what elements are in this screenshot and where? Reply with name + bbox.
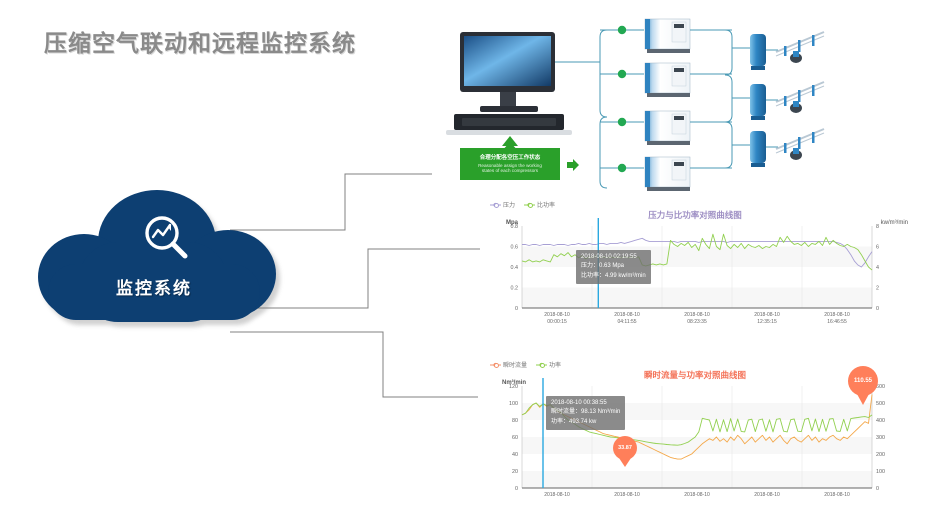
x-tick-label: 2018-08-10 <box>601 492 653 499</box>
tooltip-timestamp: 2018-08-10 02:19:55 <box>581 253 646 262</box>
flow-tooltip: 2018-08-10 00:38:55 瞬时流量：98.13 Nm³/min 功… <box>546 396 625 430</box>
y-tick-label: 0.8 <box>511 224 519 230</box>
y2-tick-label: 8 <box>876 224 879 230</box>
x-tick-label: 2018-08-10 <box>811 492 863 499</box>
air-tank-assembly <box>750 129 824 167</box>
green-info-box <box>460 182 564 183</box>
x-tick-label: 2018-08-10 <box>671 492 723 499</box>
y2-tick-label: 100 <box>876 469 885 475</box>
compressor-unit <box>645 111 690 145</box>
y-tick-label: 120 <box>509 384 518 390</box>
max-value-marker[interactable]: 110.55 <box>848 366 878 396</box>
y-tick-label: 80 <box>512 418 518 424</box>
x-tick-label: 2018-08-10 <box>741 492 793 499</box>
y2-tick-label: 0 <box>876 486 879 492</box>
pressure-tooltip: 2018-08-10 02:19:55 压力：0.63 Mpa 比功率：4.99… <box>576 250 651 284</box>
air-tank-assembly <box>750 82 824 120</box>
y-tick-label: 0 <box>515 306 518 312</box>
tooltip-line-1: 压力：0.63 Mpa <box>581 262 646 271</box>
air-tank-assembly <box>750 32 824 70</box>
marker-label: 110.55 <box>848 366 878 396</box>
y2-tick-label: 500 <box>876 401 885 407</box>
tooltip-line-1: 瞬时流量：98.13 Nm³/min <box>551 408 620 417</box>
green-info-box: 合理分配各空压工作状态 Reasonable assign the workin… <box>460 148 560 180</box>
x-tick-label: 2018-08-1008:23:35 <box>671 312 723 326</box>
tooltip-line-2: 比功率：4.99 kw/m³/min <box>581 272 646 281</box>
y-tick-label: 0.4 <box>511 265 519 271</box>
green-box-title: 合理分配各空压工作状态 <box>460 153 560 161</box>
min-value-marker[interactable]: 33.87 <box>613 436 637 460</box>
y-tick-label: 0.2 <box>511 286 519 292</box>
y-tick-label: 100 <box>509 401 518 407</box>
x-tick-label: 2018-08-1016:46:55 <box>811 312 863 326</box>
magnifier-chart-icon <box>138 210 194 266</box>
y-tick-label: 0 <box>515 486 518 492</box>
y2-tick-label: 0 <box>876 306 879 312</box>
compressor-unit <box>645 63 690 97</box>
page-title: 压缩空气联动和远程监控系统 <box>44 24 356 58</box>
cloud-label: 监控系统 <box>30 274 278 299</box>
slide-root: 压缩空气联动和远程监控系统 监控系统 <box>0 0 945 529</box>
pressure-chart[interactable]: 压力 比功率 压力与比功率对照曲线图 Mpa kw/m³/min 0.80.60… <box>480 198 910 338</box>
x-tick-label: 2018-08-10 <box>531 492 583 499</box>
y-tick-label: 0.6 <box>511 245 519 251</box>
monitoring-cloud[interactable]: 监控系统 <box>30 190 290 330</box>
x-tick-label: 2018-08-1000:00:15 <box>531 312 583 326</box>
y2-tick-label: 2 <box>876 286 879 292</box>
y2-tick-label: 400 <box>876 418 885 424</box>
compressor-unit <box>645 157 690 191</box>
tooltip-line-2: 功率：493.74 kw <box>551 418 620 427</box>
y2-tick-label: 300 <box>876 435 885 441</box>
y-tick-label: 40 <box>512 452 518 458</box>
y-tick-label: 20 <box>512 469 518 475</box>
y2-tick-label: 4 <box>876 265 879 271</box>
y2-tick-label: 6 <box>876 245 879 251</box>
tooltip-timestamp: 2018-08-10 00:38:55 <box>551 399 620 408</box>
flow-chart[interactable]: 瞬时流量 功率 瞬时流量与功率对照曲线图 Nm³/min 12010080604… <box>480 358 910 523</box>
green-box-en-2: states of each compressors <box>460 168 560 173</box>
y-tick-label: 60 <box>512 435 518 441</box>
green-right-arrow-icon <box>566 158 580 172</box>
compressor-node-dots <box>618 26 626 172</box>
x-tick-label: 2018-08-1012:35:15 <box>741 312 793 326</box>
marker-label: 33.87 <box>613 436 637 460</box>
control-center-monitor <box>446 32 572 135</box>
x-tick-label: 2018-08-1004:11:55 <box>601 312 653 326</box>
compressor-unit <box>645 19 690 53</box>
y2-tick-label: 200 <box>876 452 885 458</box>
